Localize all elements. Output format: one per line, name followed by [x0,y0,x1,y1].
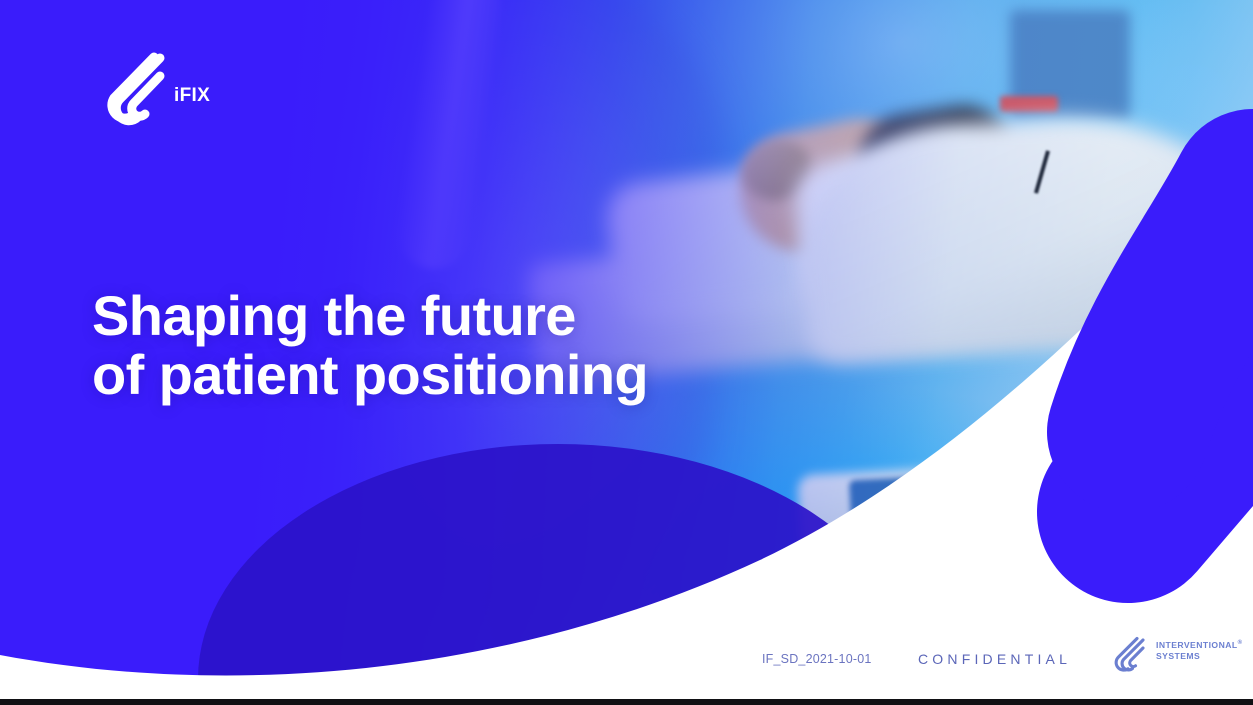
company-name-line-2: SYSTEMS [1156,651,1242,662]
title-slide: iFIX Shaping the future of patient posit… [0,0,1253,705]
document-code: IF_SD_2021-10-01 [762,652,872,666]
bottom-rule [0,699,1253,705]
headline-line-2: of patient positioning [92,345,648,404]
interventional-systems-swoosh-icon [1112,636,1150,674]
ifix-wordmark: iFIX [174,85,210,107]
interventional-systems-logo: INTERVENTIONAL® SYSTEMS [1112,634,1242,676]
ifix-swoosh-logo-icon [98,52,170,128]
company-name-line-1: INTERVENTIONAL® [1156,640,1242,651]
headline-line-1: Shaping the future [92,286,648,345]
page-title: Shaping the future of patient positionin… [92,286,648,405]
confidentiality-label: CONFIDENTIAL [918,651,1071,667]
